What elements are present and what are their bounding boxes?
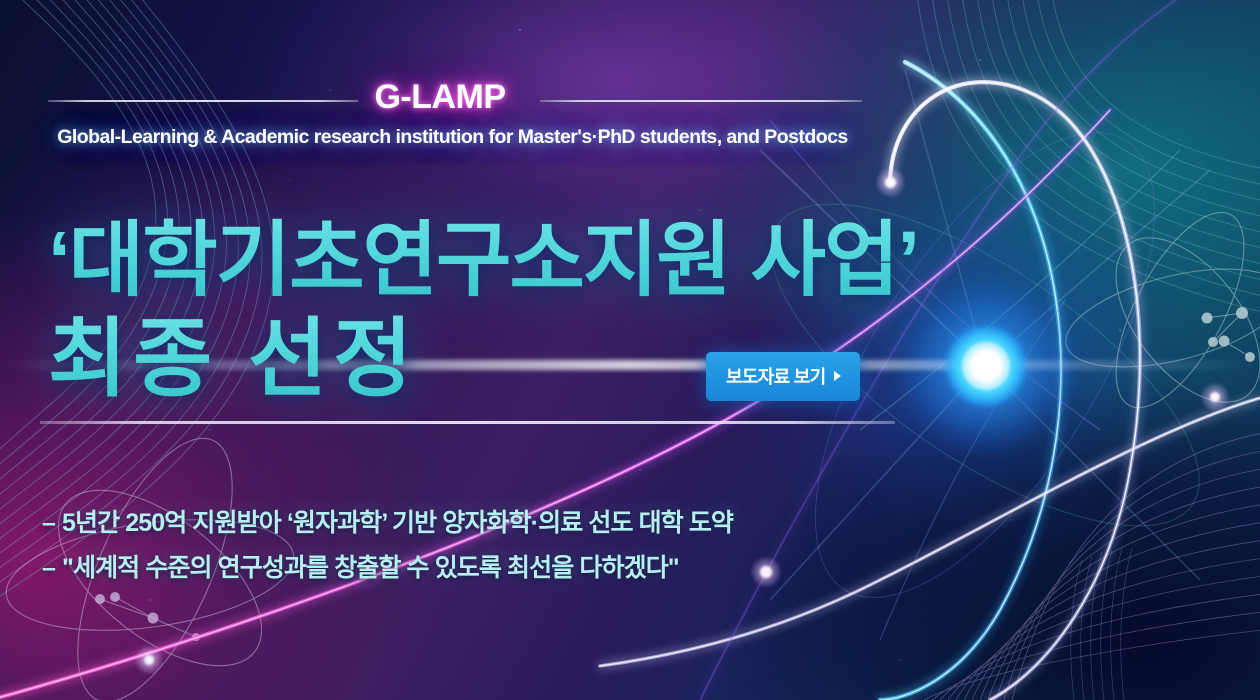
press-release-button-label: 보도자료 보기 (726, 363, 825, 389)
bullet-item-2: –"세계적 수준의 연구성과를 창출할 수 있도록 최선을 다하겠다" (42, 548, 679, 584)
brand-logo-text: G-LAMP (0, 78, 880, 117)
glamp-promo-banner: G-LAMP Global-Learning & Academic resear… (0, 0, 1260, 700)
bullet-text-2: "세계적 수준의 연구성과를 창출할 수 있도록 최선을 다하겠다" (62, 554, 679, 582)
bullet-dash-1: – (42, 509, 55, 538)
press-release-button[interactable]: 보도자료 보기 (706, 352, 860, 401)
banner-content: G-LAMP Global-Learning & Academic resear… (0, 0, 1260, 700)
headline-line-2: 최종 선정 (48, 288, 418, 413)
bullet-text-1: 5년간 250억 지원받아 ‘원자과학’ 기반 양자화학·의료 선도 대학 도약 (62, 509, 733, 537)
bullet-item-1: –5년간 250억 지원받아 ‘원자과학’ 기반 양자화학·의료 선도 대학 도… (42, 503, 733, 539)
play-arrow-icon (834, 371, 841, 381)
bullet-dash-2: – (42, 554, 55, 583)
divider-line-bottom (40, 421, 895, 424)
brand-subtitle: Global-Learning & Academic research inst… (0, 126, 905, 149)
